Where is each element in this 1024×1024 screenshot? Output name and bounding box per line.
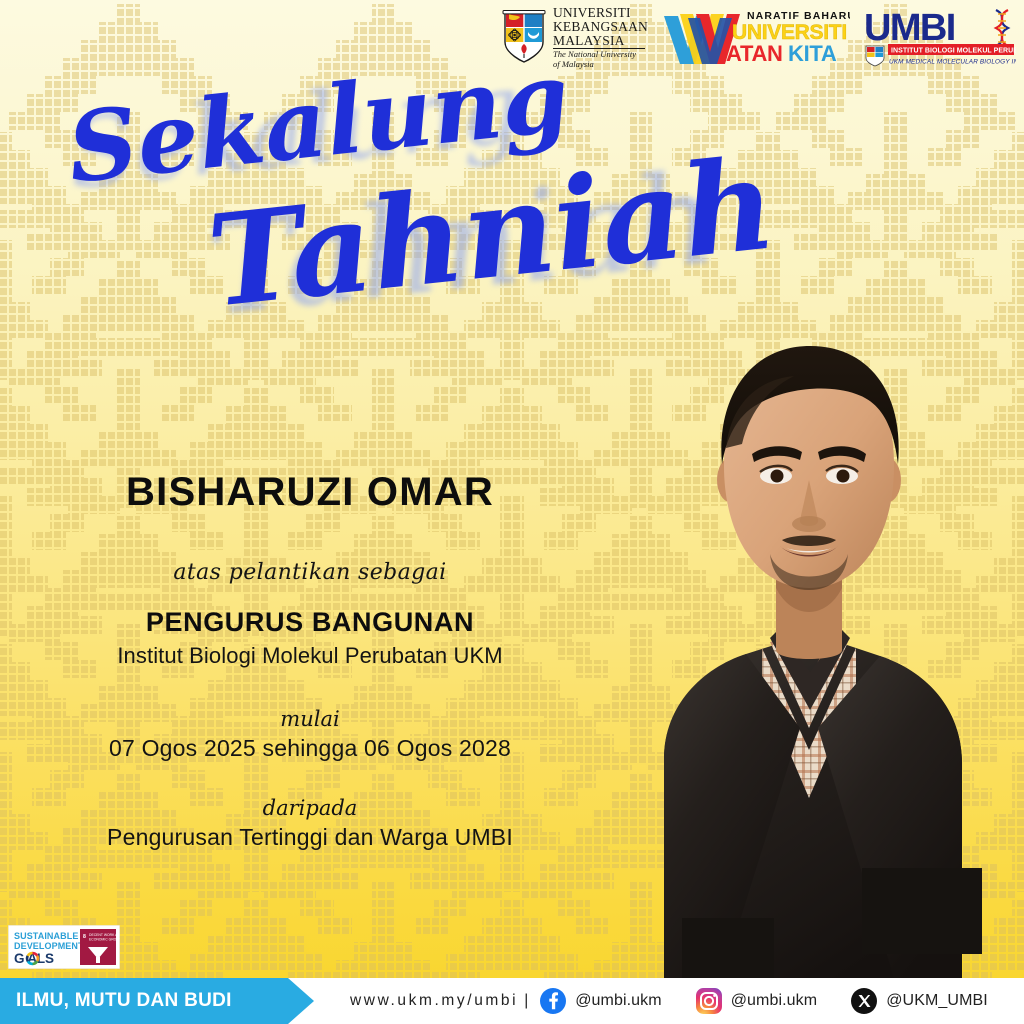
- reason-label: atas pelantikan sebagai: [0, 560, 620, 585]
- period-label: mulai: [0, 707, 620, 731]
- website-url[interactable]: www.ukm.my/umbi: [350, 992, 518, 1010]
- umbi-wordmark: UMBI: [864, 7, 955, 49]
- instagram-handle[interactable]: @umbi.ukm: [731, 992, 818, 1010]
- footer-links: www.ukm.my/umbi | @umbi.ukm: [350, 988, 1022, 1014]
- instagram-icon[interactable]: [696, 988, 722, 1014]
- award-text-block: BISHARUZI OMAR atas pelantikan sebagai P…: [0, 470, 620, 851]
- tagline-text: ILMU, MUTU DAN BUDI: [16, 990, 232, 1012]
- tagline-banner: ILMU, MUTU DAN BUDI: [0, 978, 288, 1024]
- recipient-portrait: [594, 258, 1024, 978]
- sdg-goal-label-1: DECENT WORK AND: [89, 933, 120, 937]
- headline-script: Sekalung Sekalung Tahniah Tahniah: [64, 92, 714, 342]
- sdg-line-2: DEVELOPMENT: [14, 941, 84, 951]
- footer-separator: |: [524, 992, 528, 1010]
- naratif-baharu-ukm-logo: NARATIF BAHARU UKM UNIVERSITI ATAN KITA: [662, 6, 850, 68]
- from-label: daripada: [0, 796, 620, 820]
- position-title: PENGURUS BANGUNAN: [0, 607, 620, 638]
- ukm-line-2: KEBANGSAAN: [553, 20, 648, 34]
- period-value: 07 Ogos 2025 sehingga 06 Ogos 2028: [0, 735, 620, 762]
- ukm-crest-icon: [501, 10, 547, 64]
- facebook-handle[interactable]: @umbi.ukm: [575, 992, 662, 1010]
- ukm-line-1: UNIVERSITI: [553, 6, 648, 20]
- naratif-word-atan: ATAN: [726, 41, 783, 66]
- recipient-name: BISHARUZI OMAR: [0, 470, 620, 514]
- footer-bar: ILMU, MUTU DAN BUDI www.ukm.my/umbi | @u…: [0, 978, 1024, 1024]
- sdg-line-1: SUSTAINABLE: [14, 931, 78, 941]
- ukm-sub-2: of Malaysia: [553, 60, 648, 69]
- umbi-logo: UMBI INSTITUT BIOLOGI MOLEKUL PERUBATAN …: [864, 6, 1016, 68]
- sustainable-development-goals-logo: SUSTAINABLE DEVELOPMENT G ALS 8 DECENT W…: [8, 925, 120, 969]
- institution-name: Institut Biologi Molekul Perubatan UKM: [0, 643, 620, 669]
- ukm-line-3: MALAYSIA: [553, 34, 648, 48]
- naratif-word-kita: KITA: [788, 41, 837, 66]
- social-facebook[interactable]: @umbi.ukm: [540, 988, 662, 1014]
- x-twitter-handle[interactable]: @UKM_UMBI: [886, 992, 988, 1010]
- from-value: Pengurusan Tertinggi dan Warga UMBI: [0, 824, 620, 851]
- sdg-goal-number: 8: [83, 934, 86, 940]
- sdg-goal-label-2: ECONOMIC GROWTH: [89, 938, 120, 942]
- facebook-icon[interactable]: [540, 988, 566, 1014]
- poster-canvas: UNIVERSITI KEBANGSAAN MALAYSIA The Natio…: [0, 0, 1024, 1024]
- x-twitter-icon[interactable]: [851, 988, 877, 1014]
- logo-bar: UNIVERSITI KEBANGSAAN MALAYSIA The Natio…: [501, 6, 1016, 69]
- social-x-twitter[interactable]: @UKM_UMBI: [851, 988, 988, 1014]
- social-instagram[interactable]: @umbi.ukm: [696, 988, 818, 1014]
- ukm-wordmark: UNIVERSITI KEBANGSAAN MALAYSIA The Natio…: [553, 6, 648, 69]
- umbi-sub-en: UKM MEDICAL MOLECULAR BIOLOGY INSTITUTE: [889, 59, 1016, 66]
- ukm-logo: UNIVERSITI KEBANGSAAN MALAYSIA The Natio…: [501, 6, 648, 69]
- umbi-sub-ms: INSTITUT BIOLOGI MOLEKUL PERUBATAN UKM: [891, 48, 1016, 55]
